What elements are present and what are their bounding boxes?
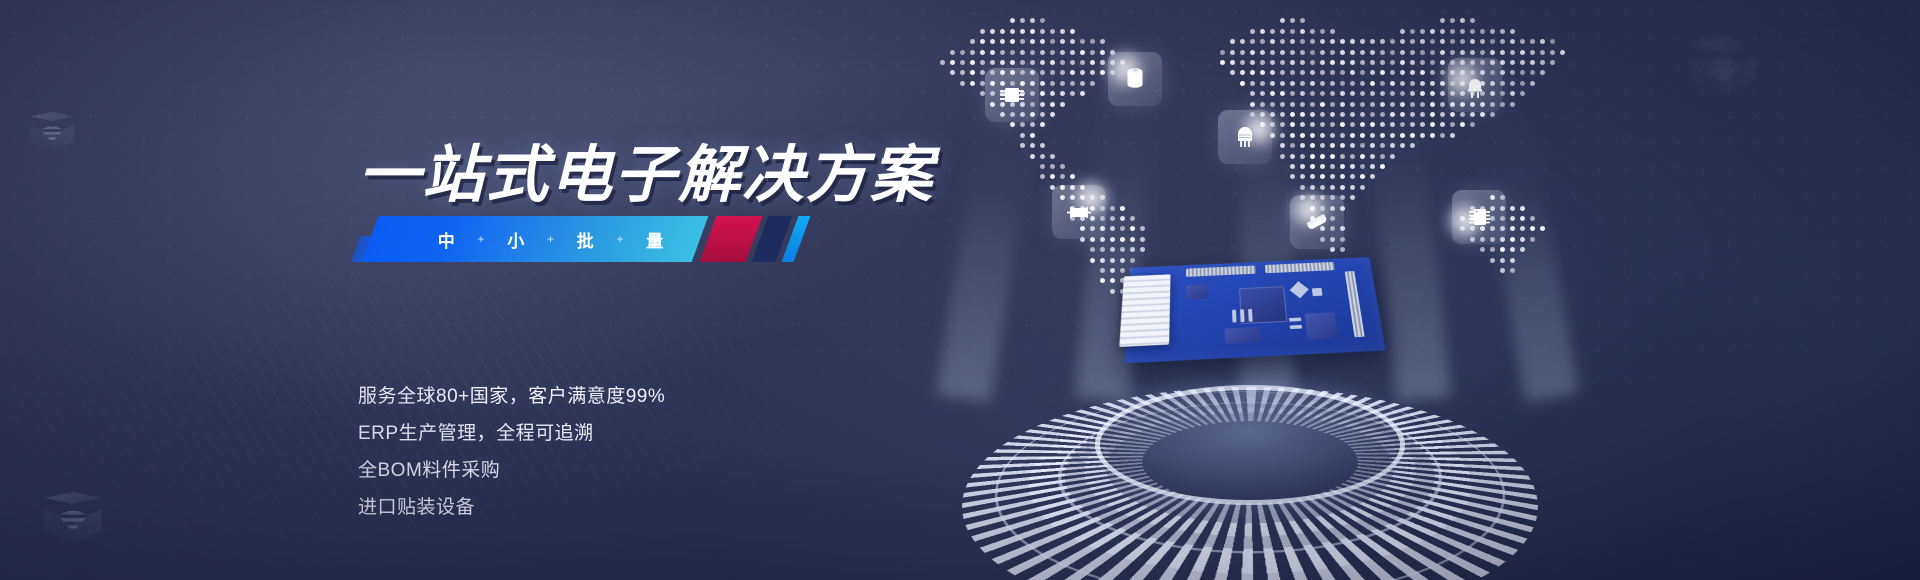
map-dot xyxy=(1290,81,1295,86)
feature-item: 进口贴装设备 xyxy=(358,489,665,526)
map-dot xyxy=(1490,258,1495,263)
map-dot xyxy=(980,60,985,65)
map-dot xyxy=(1390,112,1395,117)
map-dot xyxy=(1410,122,1415,127)
map-dot xyxy=(1070,174,1075,179)
map-dot xyxy=(1340,133,1345,138)
map-dot xyxy=(1500,50,1505,55)
map-dot xyxy=(1420,133,1425,138)
map-dot xyxy=(1490,112,1495,117)
map-dot xyxy=(1000,29,1005,34)
map-dot xyxy=(970,70,975,75)
map-dot xyxy=(1280,102,1285,107)
page-title: 一站式电子解决方案 xyxy=(358,124,934,214)
map-dot xyxy=(1280,154,1285,159)
map-dot xyxy=(1020,18,1025,23)
map-dot xyxy=(1350,122,1355,127)
map-dot xyxy=(1490,50,1495,55)
floating-cube-icon xyxy=(44,492,102,550)
map-dot xyxy=(1440,122,1445,127)
map-dot xyxy=(1430,102,1435,107)
map-dot xyxy=(1040,112,1045,117)
map-dot xyxy=(1410,102,1415,107)
map-dot xyxy=(1400,29,1405,34)
map-dot xyxy=(1040,102,1045,107)
ribbon-label-group: 中+小+批+量 xyxy=(416,216,686,262)
map-dot xyxy=(1010,29,1015,34)
map-dot xyxy=(1350,60,1355,65)
map-dot xyxy=(1260,91,1265,96)
map-dot xyxy=(1350,102,1355,107)
map-dot xyxy=(1120,226,1125,231)
map-dot xyxy=(1040,50,1045,55)
map-dot xyxy=(1330,91,1335,96)
map-dot xyxy=(1060,70,1065,75)
map-dot xyxy=(1350,195,1355,200)
map-dot xyxy=(1080,50,1085,55)
map-dot xyxy=(960,50,965,55)
map-dot xyxy=(1060,29,1065,34)
map-dot xyxy=(1000,39,1005,44)
hero-banner: 一站式电子解决方案 中+小+批+量 服务全球80+国家，客户满意度99%ERP生… xyxy=(0,0,1920,580)
map-dot xyxy=(1320,185,1325,190)
map-dot xyxy=(1310,29,1315,34)
map-dot xyxy=(1300,60,1305,65)
map-dot xyxy=(1040,154,1045,159)
map-dot xyxy=(1300,122,1305,127)
map-dot xyxy=(1090,247,1095,252)
map-dot xyxy=(1310,164,1315,169)
floating-cube-icon xyxy=(30,112,74,156)
map-dot xyxy=(1290,18,1295,23)
map-dot xyxy=(1300,29,1305,34)
map-dot xyxy=(1290,91,1295,96)
pcb-terminal-block xyxy=(1119,274,1170,347)
map-dot xyxy=(1420,81,1425,86)
map-dot xyxy=(1370,91,1375,96)
map-dot xyxy=(1350,164,1355,169)
map-dot xyxy=(1330,39,1335,44)
map-dot xyxy=(1420,91,1425,96)
map-dot xyxy=(1380,133,1385,138)
component-tile-sop-ic xyxy=(1452,190,1506,244)
map-dot xyxy=(1520,39,1525,44)
map-dot xyxy=(1330,174,1335,179)
map-dot xyxy=(1250,60,1255,65)
map-dot xyxy=(1530,70,1535,75)
map-dot xyxy=(1350,39,1355,44)
map-dot xyxy=(1010,39,1015,44)
map-dot xyxy=(1320,102,1325,107)
map-dot xyxy=(1370,81,1375,86)
map-dot xyxy=(1550,60,1555,65)
map-dot xyxy=(1290,70,1295,75)
map-dot xyxy=(1110,278,1115,283)
map-dot xyxy=(1460,122,1465,127)
map-dot xyxy=(1520,91,1525,96)
map-dot xyxy=(1020,143,1025,148)
map-dot xyxy=(1320,50,1325,55)
map-dot xyxy=(1270,102,1275,107)
map-dot xyxy=(1030,60,1035,65)
map-dot xyxy=(1360,102,1365,107)
map-dot xyxy=(1480,39,1485,44)
map-dot xyxy=(1530,39,1535,44)
map-dot xyxy=(1250,70,1255,75)
map-dot xyxy=(1470,112,1475,117)
map-dot xyxy=(1450,112,1455,117)
map-dot xyxy=(1390,122,1395,127)
map-dot xyxy=(1350,112,1355,117)
map-dot xyxy=(1340,81,1345,86)
map-dot xyxy=(1510,81,1515,86)
map-dot xyxy=(1260,29,1265,34)
map-dot xyxy=(1450,39,1455,44)
map-dot xyxy=(1240,60,1245,65)
map-dot xyxy=(1550,39,1555,44)
map-dot xyxy=(1270,50,1275,55)
map-dot xyxy=(1410,39,1415,44)
map-dot xyxy=(1000,50,1005,55)
map-dot xyxy=(990,60,995,65)
map-dot xyxy=(1400,122,1405,127)
map-dot xyxy=(1360,39,1365,44)
map-dot xyxy=(1360,143,1365,148)
map-dot xyxy=(1290,102,1295,107)
map-dot xyxy=(1460,39,1465,44)
map-dot xyxy=(1040,122,1045,127)
map-dot xyxy=(1490,29,1495,34)
map-dot xyxy=(1110,289,1115,294)
map-dot xyxy=(1360,122,1365,127)
map-dot xyxy=(1300,81,1305,86)
map-dot xyxy=(1280,143,1285,148)
map-dot xyxy=(1430,81,1435,86)
map-dot xyxy=(1090,60,1095,65)
map-dot xyxy=(1340,60,1345,65)
map-dot xyxy=(980,50,985,55)
map-dot xyxy=(1410,112,1415,117)
ribbon-label: 量 xyxy=(646,227,664,252)
map-dot xyxy=(1120,247,1125,252)
map-dot xyxy=(1330,143,1335,148)
map-dot xyxy=(1050,112,1055,117)
map-dot xyxy=(1480,247,1485,252)
map-dot xyxy=(1120,237,1125,242)
map-dot xyxy=(1540,39,1545,44)
map-dot xyxy=(1290,154,1295,159)
map-dot xyxy=(1130,237,1135,242)
map-dot xyxy=(1290,50,1295,55)
map-dot xyxy=(1060,81,1065,86)
map-dot xyxy=(1340,247,1345,252)
map-dot xyxy=(1070,91,1075,96)
map-dot xyxy=(980,29,985,34)
map-dot xyxy=(1330,29,1335,34)
feature-item: ERP生产管理，全程可追溯 xyxy=(358,415,665,452)
map-dot xyxy=(1250,91,1255,96)
map-dot xyxy=(1010,18,1015,23)
map-dot xyxy=(1340,39,1345,44)
ribbon-label: 中 xyxy=(438,227,456,252)
map-dot xyxy=(990,39,995,44)
map-dot xyxy=(1490,39,1495,44)
map-dot xyxy=(1410,91,1415,96)
map-dot xyxy=(1390,143,1395,148)
map-dot xyxy=(1040,91,1045,96)
map-dot xyxy=(1380,50,1385,55)
map-dot xyxy=(1060,164,1065,169)
map-dot xyxy=(1050,154,1055,159)
map-dot xyxy=(1370,122,1375,127)
map-dot xyxy=(1450,29,1455,34)
tile-glow xyxy=(1442,198,1488,244)
map-dot xyxy=(1060,60,1065,65)
map-dot xyxy=(1040,174,1045,179)
map-dot xyxy=(1350,154,1355,159)
map-dot xyxy=(1270,70,1275,75)
map-dot xyxy=(1040,60,1045,65)
map-dot xyxy=(1510,60,1515,65)
map-dot xyxy=(1100,268,1105,273)
map-dot xyxy=(1400,60,1405,65)
tile-glow xyxy=(1102,46,1148,92)
map-dot xyxy=(1070,60,1075,65)
map-dot xyxy=(1100,278,1105,283)
map-dot xyxy=(1320,39,1325,44)
map-dot xyxy=(1320,60,1325,65)
map-dot xyxy=(1360,70,1365,75)
hud-platform xyxy=(980,330,1520,580)
map-dot xyxy=(1340,143,1345,148)
map-dot xyxy=(1320,143,1325,148)
map-dot xyxy=(1360,154,1365,159)
map-dot xyxy=(1310,60,1315,65)
map-dot xyxy=(1460,29,1465,34)
map-dot xyxy=(1510,237,1515,242)
map-dot xyxy=(1350,143,1355,148)
map-dot xyxy=(1400,50,1405,55)
map-dot xyxy=(1560,50,1565,55)
map-dot xyxy=(1050,60,1055,65)
map-dot xyxy=(1510,102,1515,107)
component-tile-transistor xyxy=(1218,110,1272,164)
map-dot xyxy=(1250,39,1255,44)
map-dot xyxy=(1050,50,1055,55)
map-dot xyxy=(1050,164,1055,169)
map-dot xyxy=(1320,174,1325,179)
map-dot xyxy=(1090,50,1095,55)
map-dot xyxy=(1260,60,1265,65)
map-dot xyxy=(1430,50,1435,55)
ribbon-label: 小 xyxy=(507,227,525,252)
map-dot xyxy=(1340,164,1345,169)
floating-cube-icon xyxy=(1690,38,1756,104)
map-dot xyxy=(1290,122,1295,127)
feature-list: 服务全球80+国家，客户满意度99%ERP生产管理，全程可追溯全BOM料件采购进… xyxy=(358,378,665,526)
map-dot xyxy=(1410,70,1415,75)
map-dot xyxy=(1400,102,1405,107)
map-dot xyxy=(1360,81,1365,86)
map-dot xyxy=(1470,29,1475,34)
map-dot xyxy=(1120,268,1125,273)
map-dot xyxy=(1280,29,1285,34)
map-dot xyxy=(1040,143,1045,148)
map-dot xyxy=(1110,247,1115,252)
map-dot xyxy=(1440,18,1445,23)
map-dot xyxy=(1420,50,1425,55)
map-dot xyxy=(1390,154,1395,159)
map-dot xyxy=(1260,70,1265,75)
component-tile-ic-chip xyxy=(985,68,1039,122)
map-dot xyxy=(1420,112,1425,117)
map-dot xyxy=(1370,60,1375,65)
map-dot xyxy=(1370,70,1375,75)
map-dot xyxy=(1390,50,1395,55)
map-dot xyxy=(1440,133,1445,138)
map-dot xyxy=(1110,258,1115,263)
map-dot xyxy=(1290,143,1295,148)
map-dot xyxy=(1420,122,1425,127)
ribbon-label: 批 xyxy=(577,227,595,252)
map-dot xyxy=(1390,102,1395,107)
map-dot xyxy=(1340,112,1345,117)
map-dot xyxy=(1520,60,1525,65)
map-dot xyxy=(1040,39,1045,44)
map-dot xyxy=(1330,102,1335,107)
map-dot xyxy=(1240,81,1245,86)
map-dot xyxy=(1220,50,1225,55)
map-dot xyxy=(1320,29,1325,34)
map-dot xyxy=(1010,50,1015,55)
map-dot xyxy=(1310,81,1315,86)
map-dot xyxy=(1420,70,1425,75)
map-dot xyxy=(1060,91,1065,96)
map-dot xyxy=(1230,70,1235,75)
map-dot xyxy=(1440,50,1445,55)
map-dot xyxy=(970,39,975,44)
map-dot xyxy=(1250,29,1255,34)
map-dot xyxy=(1090,39,1095,44)
map-dot xyxy=(1020,60,1025,65)
map-dot xyxy=(1070,29,1075,34)
map-dot xyxy=(1500,29,1505,34)
map-dot xyxy=(1110,216,1115,221)
map-dot xyxy=(1320,154,1325,159)
map-dot xyxy=(1030,133,1035,138)
map-dot xyxy=(1390,91,1395,96)
map-dot xyxy=(1280,91,1285,96)
map-dot xyxy=(1310,154,1315,159)
map-dot xyxy=(1520,237,1525,242)
map-dot xyxy=(1300,154,1305,159)
map-dot xyxy=(1050,39,1055,44)
map-dot xyxy=(1340,70,1345,75)
map-dot xyxy=(1430,133,1435,138)
map-dot xyxy=(1110,226,1115,231)
map-dot xyxy=(1530,60,1535,65)
map-dot xyxy=(1420,102,1425,107)
map-dot xyxy=(1070,39,1075,44)
map-dot xyxy=(1020,29,1025,34)
map-dot xyxy=(1140,237,1145,242)
map-dot xyxy=(1370,112,1375,117)
map-dot xyxy=(1290,60,1295,65)
map-dot xyxy=(970,60,975,65)
map-dot xyxy=(1480,50,1485,55)
map-dot xyxy=(1510,29,1515,34)
map-dot xyxy=(1290,164,1295,169)
map-dot xyxy=(1400,133,1405,138)
map-dot xyxy=(1100,258,1105,263)
map-dot xyxy=(1420,29,1425,34)
map-dot xyxy=(940,60,945,65)
map-dot xyxy=(1080,70,1085,75)
map-dot xyxy=(1460,50,1465,55)
map-dot xyxy=(1120,206,1125,211)
map-dot xyxy=(1230,39,1235,44)
map-dot xyxy=(1360,185,1365,190)
map-dot xyxy=(1540,60,1545,65)
map-dot xyxy=(1060,50,1065,55)
map-dot xyxy=(1380,143,1385,148)
map-dot xyxy=(1230,50,1235,55)
map-dot xyxy=(1350,70,1355,75)
map-dot xyxy=(1510,258,1515,263)
map-dot xyxy=(1410,143,1415,148)
ic-chip-icon xyxy=(996,79,1028,111)
map-dot xyxy=(1510,70,1515,75)
map-dot xyxy=(1510,206,1515,211)
map-dot xyxy=(1400,70,1405,75)
map-dot xyxy=(1330,81,1335,86)
map-dot xyxy=(1310,70,1315,75)
map-dot xyxy=(1270,39,1275,44)
map-dot xyxy=(1300,102,1305,107)
map-dot xyxy=(1320,164,1325,169)
map-dot xyxy=(1500,39,1505,44)
map-dot xyxy=(1250,81,1255,86)
map-dot xyxy=(1510,91,1515,96)
map-dot xyxy=(1010,122,1015,127)
map-dot xyxy=(1130,247,1135,252)
map-dot xyxy=(1370,50,1375,55)
map-dot xyxy=(1400,91,1405,96)
map-dot xyxy=(1410,133,1415,138)
map-dot xyxy=(1430,60,1435,65)
map-dot xyxy=(1260,39,1265,44)
map-dot xyxy=(1400,39,1405,44)
map-dot xyxy=(1020,50,1025,55)
map-dot xyxy=(1390,39,1395,44)
map-dot xyxy=(1310,174,1315,179)
map-dot xyxy=(1020,133,1025,138)
map-dot xyxy=(1090,81,1095,86)
map-dot xyxy=(1380,91,1385,96)
map-dot xyxy=(1090,70,1095,75)
map-dot xyxy=(1310,50,1315,55)
component-tile-led xyxy=(1448,58,1502,112)
map-dot xyxy=(1530,50,1535,55)
map-dot xyxy=(1380,39,1385,44)
map-dot xyxy=(1430,39,1435,44)
pcb-board xyxy=(1125,257,1386,363)
map-dot xyxy=(1480,29,1485,34)
map-dot xyxy=(1290,29,1295,34)
map-dot xyxy=(1140,226,1145,231)
map-dot xyxy=(1420,60,1425,65)
map-dot xyxy=(1080,81,1085,86)
